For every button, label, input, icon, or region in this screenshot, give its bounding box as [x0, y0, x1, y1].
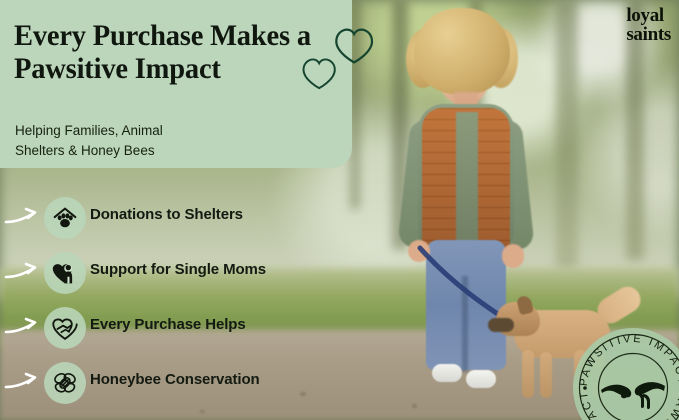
subtitle-line-1: Helping Families, Animal: [15, 121, 315, 141]
curved-arrow-icon: [4, 370, 40, 394]
list-item: Honeybee Conservation: [0, 357, 300, 412]
bee-icon: [44, 362, 86, 404]
brand-logo[interactable]: loyal saints: [626, 6, 671, 44]
curved-arrow-icon: [4, 315, 40, 339]
brand-logo-line-1: loyal: [626, 6, 671, 25]
page-subtitle: Helping Families, Animal Shelters & Hone…: [15, 121, 315, 161]
heart-doodle-group: [300, 18, 380, 96]
heart-doodle-icon: [304, 59, 335, 88]
dog-leg: [540, 352, 552, 398]
path-speck: [300, 392, 306, 396]
dog-leg: [522, 350, 534, 398]
subtitle-line-2: Shelters & Honey Bees: [15, 141, 315, 161]
page-title: Every Purchase Makes a Pawsitive Impact: [14, 19, 328, 85]
curved-arrow-icon: [4, 260, 40, 284]
feature-list: Donations to Shelters Support for Single…: [0, 192, 300, 412]
list-item-label: Honeybee Conservation: [90, 371, 260, 388]
heart-doodle-icon: [336, 30, 372, 63]
list-item-label: Donations to Shelters: [90, 206, 243, 223]
dog-snout: [488, 318, 514, 332]
list-item: Every Purchase Helps: [0, 302, 300, 357]
list-item: Donations to Shelters: [0, 192, 300, 247]
ad-banner: Every Purchase Makes a Pawsitive Impact …: [0, 0, 679, 420]
curved-arrow-icon: [4, 205, 40, 229]
list-item-label: Every Purchase Helps: [90, 316, 246, 333]
list-item-label: Support for Single Moms: [90, 261, 266, 278]
badge-dot: [583, 386, 587, 390]
heart-handshake-icon: [44, 307, 86, 349]
dog-ear: [516, 295, 534, 316]
heart-mother-child-icon: [44, 252, 86, 294]
brand-logo-line-2: saints: [626, 25, 671, 44]
list-item: Support for Single Moms: [0, 247, 300, 302]
status-badge: PAWSITIVE IMPACT PAWSITIVE IMPACT: [571, 326, 679, 420]
house-paw-icon: [44, 197, 86, 239]
